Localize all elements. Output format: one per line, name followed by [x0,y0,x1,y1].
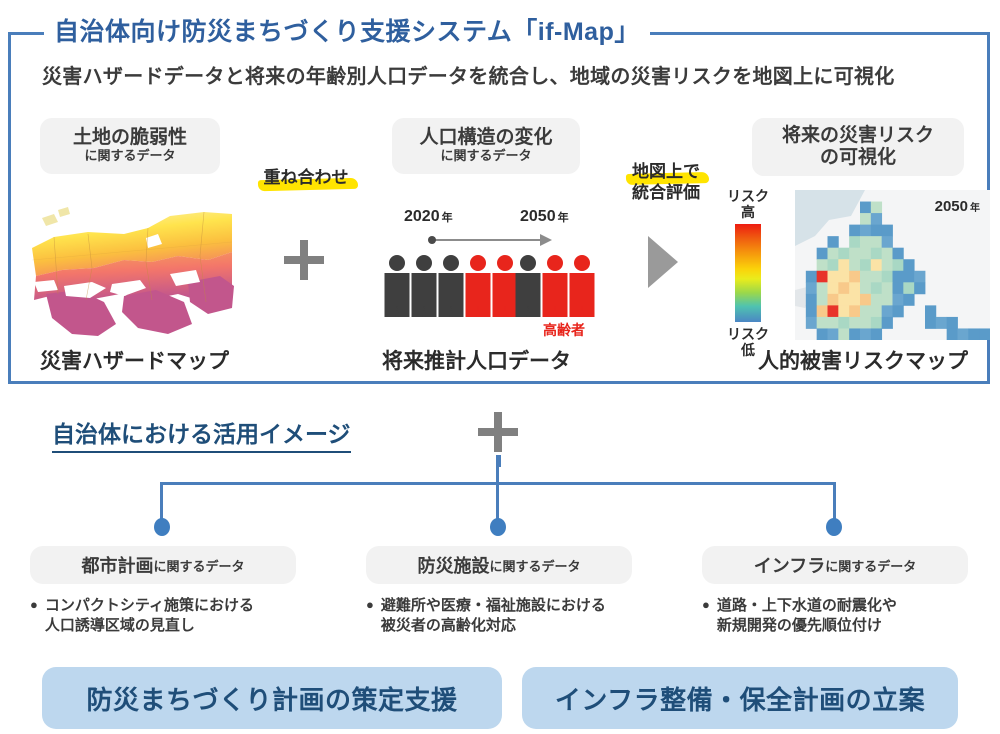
branch-node-center [490,518,506,536]
pill-future-risk-main: 将来の災害リスク [782,125,934,147]
year-2020-value: 2020 [404,208,440,225]
pill-land-vulnerability-main: 土地の脆弱性 [73,127,187,149]
category-disaster-facilities-pill: 防災施設に関するデータ [366,546,632,584]
caption-hazard-map: 災害ハザードマップ [40,345,229,375]
timeline-arrow [432,239,550,241]
pill-population-structure: 人口構造の変化 に関するデータ [392,118,580,174]
category-disaster-facilities-bullet: ● 避難所や医療・福祉施設における 被災者の高齢化対応 [366,596,632,637]
category-infrastructure: インフラに関するデータ ● 道路・上下水道の耐震化や 新規開発の優先順位付け [702,546,968,637]
legend-colorbar [735,224,761,322]
hazard-map-image [28,190,236,340]
arrow-triangle-icon [648,236,678,288]
risk-map-year: 2050年 [935,198,980,215]
person-icon-elderly [465,255,491,317]
elderly-label: 高齢者 [543,320,585,340]
people-group-2050 [515,255,596,317]
category-disaster-facilities: 防災施設に関するデータ ● 避難所や医療・福祉施設における 被災者の高齢化対応 [366,546,632,637]
branch-connector [160,482,836,532]
label-map-integration-line2: 統合評価 [632,183,700,202]
pill-population-structure-main: 人口構造の変化 [419,127,552,149]
branch-stem-line [496,460,499,484]
frame-subtitle: 災害ハザードデータと将来の年齢別人口データを統合し、地域の災害リスクを地図上に可… [42,60,962,89]
category-urban-planning-bullet-text: コンパクトシティ施策における 人口誘導区域の見直し [45,596,254,637]
caption-risk-map: 人的被害リスクマップ [758,345,968,375]
category-infrastructure-pill: インフラに関するデータ [702,546,968,584]
label-map-integration: 地図上で 統合評価 [612,162,720,203]
pill-future-risk-sub: の可視化 [820,147,896,169]
label-map-integration-line1: 地図上で [629,162,703,183]
pill-population-structure-sub: に関するデータ [440,148,531,165]
branch-node-right [826,518,842,536]
person-icon [438,255,464,317]
bullet-dot-icon: ● [702,596,710,637]
bullet-dot-icon: ● [366,596,374,637]
year-label-2050: 2050年 [520,208,569,226]
result-box-plan-support: 防災まちづくり計画の策定支援 [42,667,502,729]
pill-future-risk: 将来の災害リスク の可視化 [752,118,964,176]
branch-vertical-line-center [496,482,499,520]
category-infrastructure-bullet-text: 道路・上下水道の耐震化や 新規開発の優先順位付け [717,596,897,637]
category-infrastructure-bullet: ● 道路・上下水道の耐震化や 新規開発の優先順位付け [702,596,968,637]
risk-map-year-value: 2050 [935,198,968,215]
category-urban-planning: 都市計画に関するデータ ● コンパクトシティ施策における 人口誘導区域の見直し [30,546,296,637]
pill-land-vulnerability: 土地の脆弱性 に関するデータ [40,118,220,174]
risk-map-year-unit: 年 [970,203,980,214]
legend-high-line1: リスク [720,188,776,204]
category-urban-planning-pill: 都市計画に関するデータ [30,546,296,584]
category-urban-planning-bullet: ● コンパクトシティ施策における 人口誘導区域の見直し [30,596,296,637]
bullet-dot-icon: ● [30,596,38,637]
person-icon-elderly [569,255,595,317]
page-title: 自治体向け防災まちづくり支援システム「if-Map」 [44,12,650,48]
category-infrastructure-sub: に関するデータ [825,556,916,575]
legend-low-line1: リスク [720,326,776,342]
person-icon-elderly [542,255,568,317]
timeline-start-dot [428,236,436,244]
plus-icon-lower [478,412,518,452]
risk-color-legend: リスク 高 リスク 低 [720,188,776,358]
category-disaster-facilities-bullet-text: 避難所や医療・福祉施設における 被災者の高齢化対応 [381,596,606,637]
label-overlay: 重ね合わせ [246,168,366,189]
category-urban-planning-sub: に関するデータ [153,556,244,575]
person-icon [384,255,410,317]
legend-high-line2: 高 [720,204,776,220]
year-2050-unit: 年 [558,212,569,224]
category-disaster-facilities-sub: に関するデータ [489,556,580,575]
branch-vertical-line-right [833,482,836,520]
person-icon [411,255,437,317]
caption-population-data: 将来推計人口データ [382,345,571,375]
year-label-2020: 2020年 [404,208,453,226]
branch-node-left [154,518,170,536]
label-overlay-text: 重ね合わせ [261,168,352,189]
section-title-use-cases: 自治体における活用イメージ [52,415,351,453]
person-icon [515,255,541,317]
result-box-infrastructure-plan: インフラ整備・保全計画の立案 [522,667,958,729]
category-disaster-facilities-main: 防災施設 [417,552,489,578]
infographic-root: 自治体向け防災まちづくり支援システム「if-Map」 災害ハザードデータと将来の… [0,0,1000,734]
plus-icon-overlay [284,240,324,280]
year-2020-unit: 年 [442,212,453,224]
pill-land-vulnerability-sub: に関するデータ [84,148,175,165]
year-2050-value: 2050 [520,208,556,225]
risk-grid-map: 2050年 [795,190,990,340]
people-group-2020 [384,255,519,317]
timeline-arrowhead-icon [540,234,552,246]
branch-vertical-line-left [160,482,163,520]
category-infrastructure-main: インフラ [754,552,825,578]
category-urban-planning-main: 都市計画 [81,552,153,578]
